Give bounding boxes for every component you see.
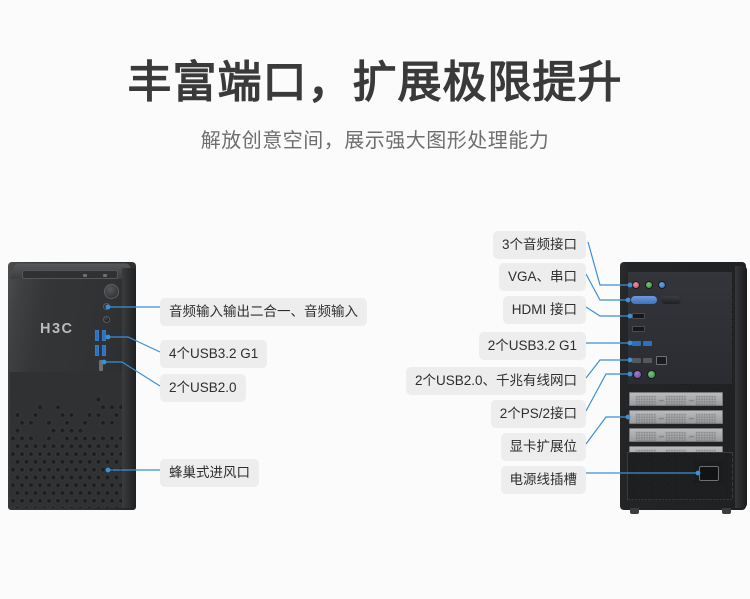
hdmi-port: [632, 326, 645, 332]
chassis-foot-right: [722, 508, 731, 514]
front-audio-jack-combo: [103, 303, 110, 310]
power-button-icon: [104, 284, 119, 299]
callout-rear-hdmi[interactable]: HDMI 接口: [503, 296, 586, 324]
callout-rear-usb3[interactable]: 2个USB3.2 G1: [479, 332, 586, 360]
chassis-foot-left: [630, 508, 639, 514]
ethernet-rj45-port: [656, 356, 667, 365]
rear-usb2-port-1: [632, 358, 641, 363]
callout-front-usb3[interactable]: 4个USB3.2 G1: [160, 340, 267, 368]
audio-jack-mic: [632, 281, 640, 289]
rear-usb3-port-2: [643, 341, 652, 346]
vga-port: [631, 296, 657, 304]
front-usb3-port-3: [95, 345, 99, 356]
front-usb3-port-4: [102, 345, 106, 356]
expansion-slot-cover-3: [629, 428, 723, 442]
callout-rear-ps2[interactable]: 2个PS/2接口: [491, 400, 586, 428]
ps2-keyboard-port: [633, 370, 642, 379]
page-title: 丰富端口，扩展极限提升: [0, 58, 750, 109]
power-cord-socket: [699, 466, 719, 481]
expansion-slot-cover-2: [629, 410, 723, 424]
honeycomb-intake-vent: [10, 372, 134, 508]
product-feature-banner: 丰富端口，扩展极限提升 解放创意空间，展示强大图形处理能力 H3C: [0, 0, 750, 599]
displayport-1: [632, 313, 645, 319]
audio-jack-line-out: [645, 281, 653, 289]
callout-front-usb2[interactable]: 2个USB2.0: [160, 374, 246, 402]
front-chassis-side: [122, 268, 136, 508]
ps2-mouse-port: [647, 370, 656, 379]
h3c-brand-logo: H3C: [40, 321, 74, 337]
callout-rear-audio[interactable]: 3个音频接口: [493, 231, 586, 259]
callout-rear-usb2-lan[interactable]: 2个USB2.0、千兆有线网口: [406, 367, 586, 395]
expansion-slot-cover-1: [629, 392, 723, 406]
front-audio-jack-in: [103, 316, 110, 323]
front-usb3-port-1: [95, 330, 99, 341]
audio-jack-line-in: [658, 281, 666, 289]
rear-chassis-side: [735, 266, 747, 508]
callout-rear-gpu[interactable]: 显卡扩展位: [501, 433, 587, 461]
callout-rear-power[interactable]: 电源线插槽: [501, 466, 587, 494]
optical-drive-slot: [22, 270, 118, 279]
callout-front-audio[interactable]: 音频输入输出二合一、音频输入: [160, 298, 367, 326]
page-subtitle: 解放创意空间，展示强大图形处理能力: [0, 124, 750, 153]
serial-port: [661, 296, 681, 304]
front-usb3-port-2: [102, 330, 106, 341]
front-usb2-port: [99, 360, 103, 371]
callout-rear-vga[interactable]: VGA、串口: [499, 263, 586, 291]
rear-usb3-port-1: [632, 341, 641, 346]
callout-front-vent[interactable]: 蜂巢式进风口: [160, 459, 259, 487]
rear-usb2-port-2: [643, 358, 652, 363]
